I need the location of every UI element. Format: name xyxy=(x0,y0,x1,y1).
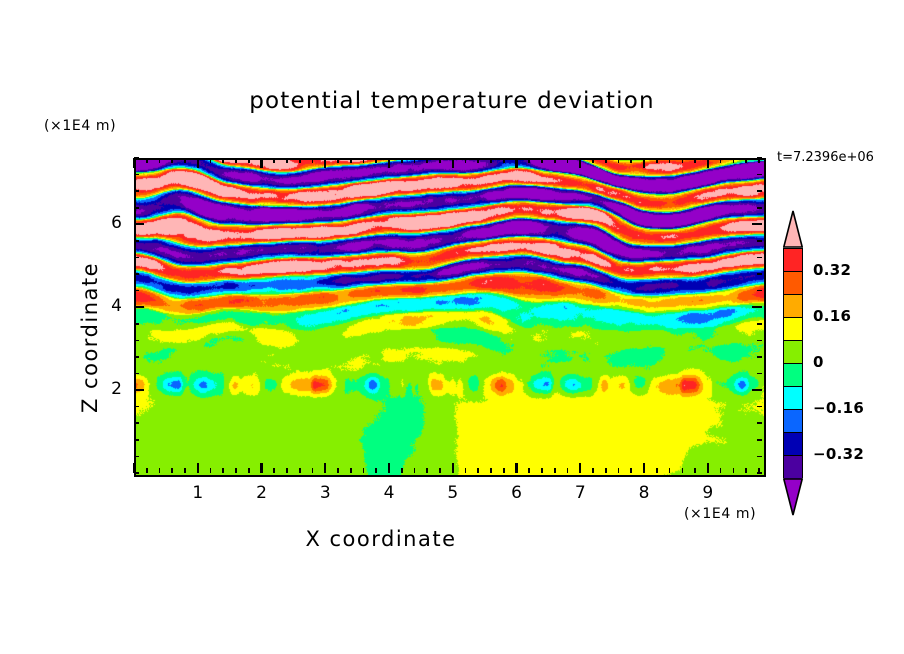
colorbar-label: 0.16 xyxy=(813,307,851,325)
axis-tick xyxy=(757,456,762,458)
y-axis-unit-label: (×1E4 m) xyxy=(44,118,116,134)
axis-tick xyxy=(439,468,441,473)
axis-tick xyxy=(134,340,139,342)
axis-tick xyxy=(363,468,365,473)
axis-tick xyxy=(134,456,139,458)
axis-tick xyxy=(694,468,696,473)
colorbar-band xyxy=(784,433,802,456)
axis-tick xyxy=(426,468,428,473)
axis-tick xyxy=(388,463,390,473)
axis-tick xyxy=(554,468,556,473)
axis-tick xyxy=(579,158,581,168)
colorbar-label: −0.32 xyxy=(813,445,864,463)
axis-tick xyxy=(210,468,212,473)
colorbar-over-arrow xyxy=(783,210,803,248)
axis-tick xyxy=(630,158,632,163)
axis-tick xyxy=(528,158,530,163)
colorbar-band xyxy=(784,364,802,387)
x-tick-label: 1 xyxy=(178,483,218,503)
axis-tick xyxy=(184,158,186,163)
axis-tick xyxy=(248,158,250,163)
plot-area xyxy=(134,158,766,477)
axis-tick xyxy=(733,468,735,473)
axis-tick xyxy=(134,273,139,275)
axis-tick xyxy=(752,306,762,308)
axis-tick xyxy=(694,158,696,163)
axis-tick xyxy=(134,223,144,225)
axis-tick xyxy=(757,323,762,325)
axis-tick xyxy=(134,472,139,474)
axis-tick xyxy=(134,290,139,292)
axis-tick xyxy=(618,468,620,473)
axis-tick xyxy=(134,422,139,424)
axis-tick xyxy=(757,356,762,358)
axis-tick xyxy=(567,158,569,163)
axis-tick xyxy=(286,468,288,473)
colorbar-band xyxy=(784,318,802,341)
colorbar-under-arrow xyxy=(783,478,803,516)
axis-tick xyxy=(222,158,224,163)
axis-tick xyxy=(134,389,144,391)
axis-tick xyxy=(757,207,762,209)
axis-tick xyxy=(414,468,416,473)
figure-canvas: potential temperature deviation (×1E4 m)… xyxy=(0,0,904,654)
y-tick-label: 6 xyxy=(92,213,122,233)
axis-tick xyxy=(554,158,556,163)
axis-tick xyxy=(299,158,301,163)
colorbar-band xyxy=(784,249,802,272)
axis-tick xyxy=(757,340,762,342)
axis-tick xyxy=(159,158,161,163)
axis-tick xyxy=(541,158,543,163)
axis-tick xyxy=(401,468,403,473)
axis-tick xyxy=(720,158,722,163)
page-title: potential temperature deviation xyxy=(0,88,904,114)
contour-field xyxy=(136,160,764,475)
colorbar-band xyxy=(784,341,802,364)
axis-tick xyxy=(134,406,139,408)
axis-tick xyxy=(528,468,530,473)
axis-tick xyxy=(324,158,326,168)
axis-tick xyxy=(541,468,543,473)
axis-tick xyxy=(299,468,301,473)
axis-tick xyxy=(134,257,139,259)
colorbar-band xyxy=(784,410,802,433)
axis-tick xyxy=(350,158,352,163)
axis-tick xyxy=(363,158,365,163)
colorbar-band xyxy=(784,456,802,479)
x-axis-title: X coordinate xyxy=(0,527,762,551)
axis-tick xyxy=(515,158,517,168)
x-tick-label: 4 xyxy=(369,483,409,503)
axis-tick xyxy=(669,468,671,473)
x-tick-label: 3 xyxy=(305,483,345,503)
x-tick-label: 9 xyxy=(688,483,728,503)
axis-tick xyxy=(757,157,762,159)
axis-tick xyxy=(273,468,275,473)
x-tick-label: 8 xyxy=(624,483,664,503)
axis-tick xyxy=(146,468,148,473)
axis-tick xyxy=(605,468,607,473)
axis-tick xyxy=(134,439,139,441)
axis-tick xyxy=(134,207,139,209)
axis-tick xyxy=(337,158,339,163)
axis-tick xyxy=(197,463,199,473)
axis-tick xyxy=(720,468,722,473)
axis-tick xyxy=(134,190,139,192)
colorbar-label: 0 xyxy=(813,353,824,371)
colorbar-band xyxy=(784,272,802,295)
axis-tick xyxy=(733,158,735,163)
axis-tick xyxy=(757,472,762,474)
axis-tick xyxy=(324,463,326,473)
axis-tick xyxy=(312,468,314,473)
axis-tick xyxy=(643,463,645,473)
axis-tick xyxy=(235,158,237,163)
axis-tick xyxy=(248,468,250,473)
axis-tick xyxy=(134,373,139,375)
axis-tick xyxy=(350,468,352,473)
axis-tick xyxy=(452,463,454,473)
axis-tick xyxy=(490,468,492,473)
axis-tick xyxy=(752,389,762,391)
axis-tick xyxy=(503,468,505,473)
axis-tick xyxy=(477,468,479,473)
axis-tick xyxy=(146,158,148,163)
axis-tick xyxy=(567,468,569,473)
axis-tick xyxy=(260,463,262,473)
axis-tick xyxy=(134,240,139,242)
axis-tick xyxy=(757,422,762,424)
axis-tick xyxy=(757,439,762,441)
axis-tick xyxy=(745,468,747,473)
axis-tick xyxy=(134,323,139,325)
axis-tick xyxy=(707,158,709,168)
axis-tick xyxy=(579,463,581,473)
axis-tick xyxy=(757,406,762,408)
x-axis-unit-label: (×1E4 m) xyxy=(684,506,756,522)
x-tick-label: 5 xyxy=(433,483,473,503)
axis-tick xyxy=(757,373,762,375)
axis-tick xyxy=(134,174,139,176)
axis-tick xyxy=(235,468,237,473)
axis-tick xyxy=(184,468,186,473)
axis-tick xyxy=(656,468,658,473)
axis-tick xyxy=(757,290,762,292)
axis-tick xyxy=(388,158,390,168)
colorbar-band xyxy=(784,387,802,410)
x-tick-label: 2 xyxy=(242,483,282,503)
axis-tick xyxy=(210,158,212,163)
axis-tick xyxy=(414,158,416,163)
axis-tick xyxy=(477,158,479,163)
axis-tick xyxy=(757,174,762,176)
axis-tick xyxy=(592,158,594,163)
colorbar-band xyxy=(784,295,802,318)
axis-tick xyxy=(312,158,314,163)
axis-tick xyxy=(745,158,747,163)
axis-tick xyxy=(643,158,645,168)
axis-tick xyxy=(133,158,135,168)
axis-tick xyxy=(605,158,607,163)
axis-tick xyxy=(222,468,224,473)
axis-tick xyxy=(260,158,262,168)
colorbar-label: 0.32 xyxy=(813,261,851,279)
axis-tick xyxy=(682,158,684,163)
axis-tick xyxy=(171,158,173,163)
axis-tick xyxy=(752,223,762,225)
axis-tick xyxy=(757,240,762,242)
axis-tick xyxy=(656,158,658,163)
axis-tick xyxy=(401,158,403,163)
colorbar-bands xyxy=(783,248,803,478)
axis-tick xyxy=(465,158,467,163)
axis-tick xyxy=(134,356,139,358)
axis-tick xyxy=(452,158,454,168)
colorbar-label: −0.16 xyxy=(813,399,864,417)
axis-tick xyxy=(171,468,173,473)
axis-tick xyxy=(757,190,762,192)
axis-tick xyxy=(273,158,275,163)
axis-tick xyxy=(286,158,288,163)
axis-tick xyxy=(426,158,428,163)
axis-tick xyxy=(375,158,377,163)
x-tick-label: 6 xyxy=(497,483,537,503)
axis-tick xyxy=(197,158,199,168)
axis-tick xyxy=(618,158,620,163)
timestamp-annotation: t=7.2396e+06 xyxy=(777,150,874,165)
axis-tick xyxy=(515,463,517,473)
axis-tick xyxy=(503,158,505,163)
axis-tick xyxy=(669,158,671,163)
axis-tick xyxy=(439,158,441,163)
axis-tick xyxy=(757,257,762,259)
y-axis-title: Z coordinate xyxy=(78,262,102,413)
axis-tick xyxy=(465,468,467,473)
axis-tick xyxy=(682,468,684,473)
axis-tick xyxy=(490,158,492,163)
axis-tick xyxy=(134,157,139,159)
axis-tick xyxy=(630,468,632,473)
axis-tick xyxy=(757,273,762,275)
axis-tick xyxy=(592,468,594,473)
axis-tick xyxy=(337,468,339,473)
axis-tick xyxy=(159,468,161,473)
axis-tick xyxy=(375,468,377,473)
axis-tick xyxy=(707,463,709,473)
axis-tick xyxy=(134,306,144,308)
x-tick-label: 7 xyxy=(560,483,600,503)
